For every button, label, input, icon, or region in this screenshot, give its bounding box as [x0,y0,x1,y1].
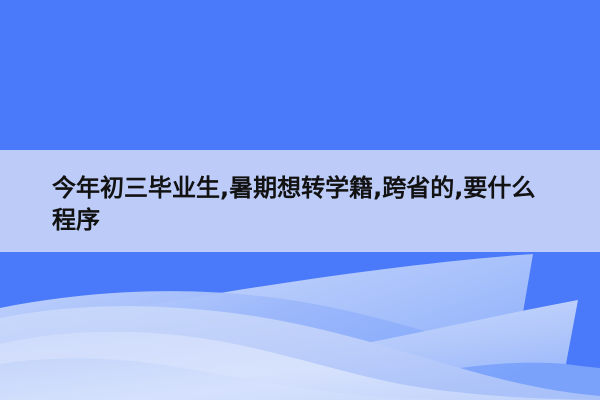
top-blue-band [0,0,600,150]
headline-band: 今年初三毕业生,暑期想转学籍,跨省的,要什么程序 [0,150,600,252]
decorative-wave-band [0,252,600,400]
wave-illustration [0,252,600,400]
banner-card: 今年初三毕业生,暑期想转学籍,跨省的,要什么程序 [0,0,600,400]
page-title: 今年初三毕业生,暑期想转学籍,跨省的,要什么程序 [52,172,550,236]
